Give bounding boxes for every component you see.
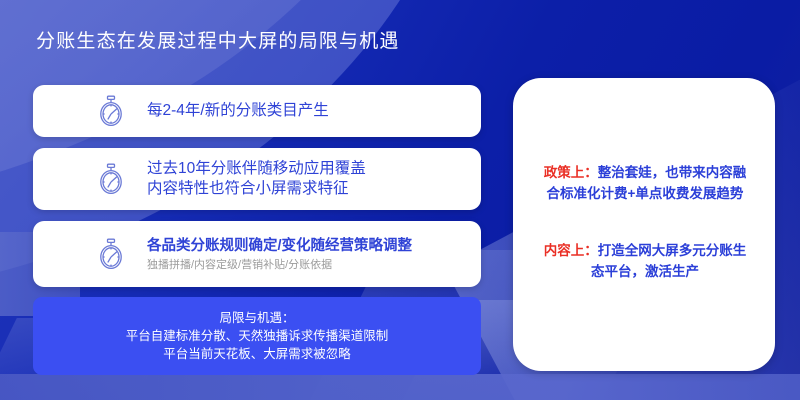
- conclusion-block-policy-label: 政策上：: [544, 165, 598, 180]
- conclusion-block-policy: 政策上：整治套娃，也带来内容融 合标准化计费+单点收费发展趋势: [531, 162, 759, 204]
- info-card-3[interactable]: 各品类分账规则确定/变化随经营策略调整 独播拼播/内容定级/营销补贴/分账依据: [33, 221, 481, 287]
- info-card-3-line-1: 各品类分账规则确定/变化随经营策略调整: [147, 236, 481, 256]
- conclusion-block-content: 内容上：打造全网大屏多元分账生 态平台，激活生产: [531, 240, 759, 282]
- info-card-2[interactable]: 过去10年分账伴随移动应用覆盖 内容特性也符合小屏需求特征: [33, 148, 481, 210]
- conclusion-block-policy-row-1: 政策上：整治套娃，也带来内容融: [531, 162, 759, 183]
- slide-canvas: 分账生态在发展过程中大屏的局限与机遇 每2-4年/新的分账类: [0, 0, 800, 400]
- info-card-3-text: 各品类分账规则确定/变化随经营策略调整 独播拼播/内容定级/营销补贴/分账依据: [141, 236, 481, 273]
- info-card-2-line-1: 过去10年分账伴随移动应用覆盖: [147, 159, 481, 179]
- conclusion-block-content-row-2: 态平台，激活生产: [531, 261, 759, 282]
- summary-banner-line-3: 平台当前天花板、大屏需求被忽略: [163, 345, 351, 363]
- info-card-3-subtext: 独播拼播/内容定级/营销补贴/分账依据: [147, 257, 481, 273]
- summary-banner-body: 局限与机遇： 平台自建标准分散、天然独播诉求传播渠道限制 平台当前天花板、大屏需…: [33, 297, 481, 375]
- conclusion-panel[interactable]: 政策上：整治套娃，也带来内容融 合标准化计费+单点收费发展趋势 内容上：打造全网…: [513, 78, 775, 371]
- background-bottom-band: [0, 374, 800, 400]
- info-card-1-line-1: 每2-4年/新的分账类目产生: [147, 101, 481, 121]
- conclusion-block-content-body-1: 打造全网大屏多元分账生: [598, 243, 747, 258]
- info-card-1[interactable]: 每2-4年/新的分账类目产生: [33, 85, 481, 137]
- conclusion-block-policy-row-2: 合标准化计费+单点收费发展趋势: [531, 183, 759, 204]
- stopwatch-icon: [81, 95, 141, 128]
- summary-banner-line-1: 局限与机遇：: [219, 309, 294, 327]
- stopwatch-icon: [81, 238, 141, 271]
- stopwatch-icon: [81, 163, 141, 196]
- summary-banner-line-2: 平台自建标准分散、天然独播诉求传播渠道限制: [126, 327, 389, 345]
- conclusion-block-content-row-1: 内容上：打造全网大屏多元分账生: [531, 240, 759, 261]
- info-card-1-text: 每2-4年/新的分账类目产生: [141, 101, 481, 121]
- info-card-2-line-2: 内容特性也符合小屏需求特征: [147, 179, 481, 199]
- conclusion-block-policy-body-1: 整治套娃，也带来内容融: [598, 165, 747, 180]
- conclusion-block-content-label: 内容上：: [544, 243, 598, 258]
- page-title: 分账生态在发展过程中大屏的局限与机遇: [36, 26, 400, 53]
- summary-banner[interactable]: 局限与机遇： 平台自建标准分散、天然独播诉求传播渠道限制 平台当前天花板、大屏需…: [33, 297, 481, 375]
- info-card-2-text: 过去10年分账伴随移动应用覆盖 内容特性也符合小屏需求特征: [141, 159, 481, 199]
